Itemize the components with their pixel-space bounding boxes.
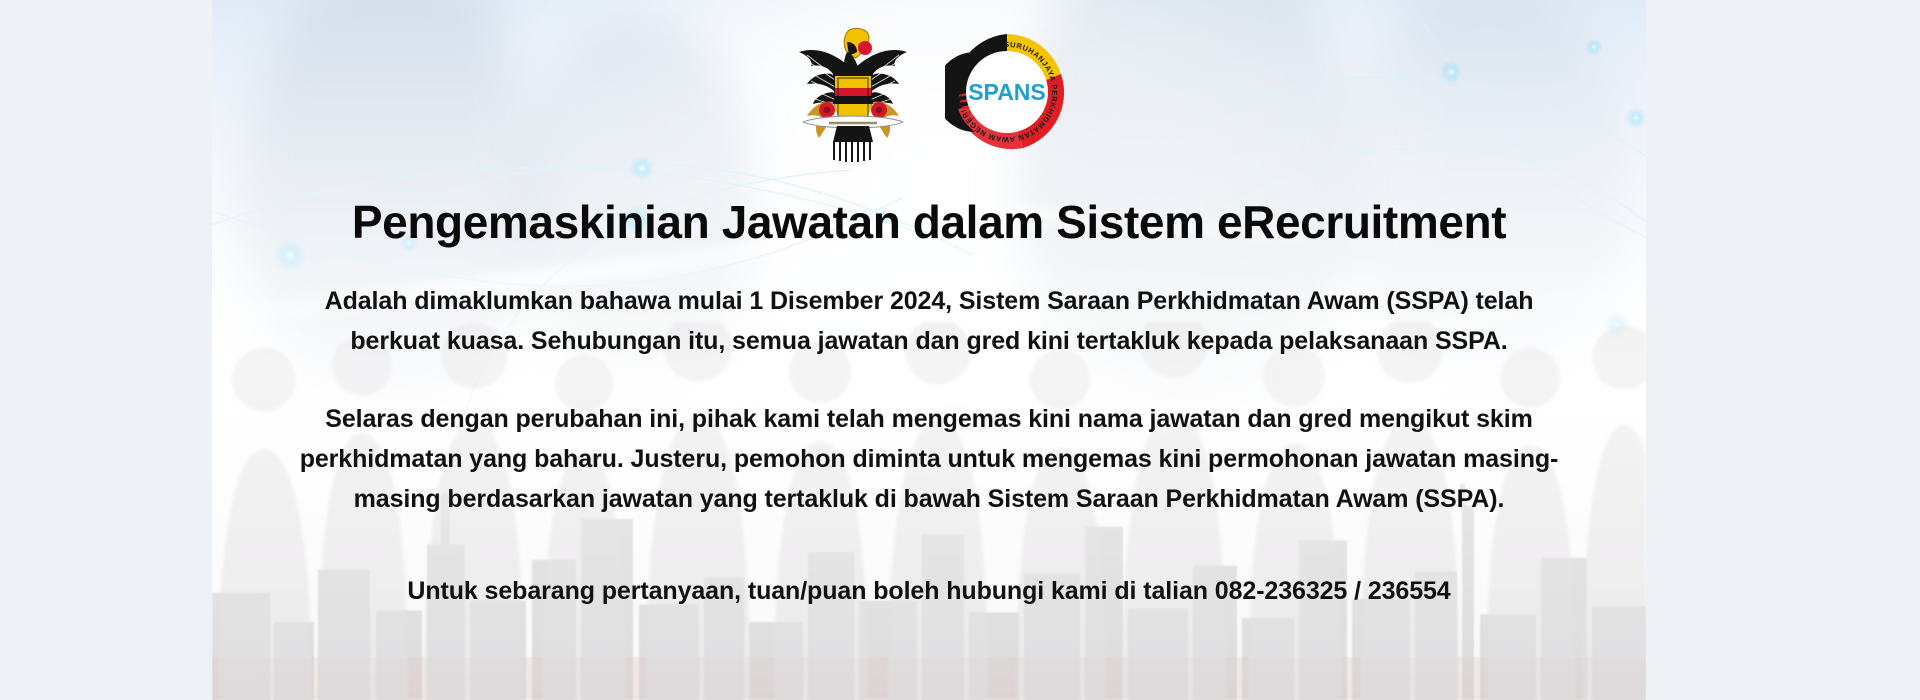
page-title: Pengemaskinian Jawatan dalam Sistem eRec… xyxy=(352,198,1506,247)
spans-logo-icon: SURUHANJAYA PERKHIDMATAN AWAM NEGERI SAR… xyxy=(945,30,1069,154)
banner-content: SURUHANJAYA PERKHIDMATAN AWAM NEGERI SAR… xyxy=(212,0,1646,700)
contact-line: Untuk sebarang pertanyaan, tuan/puan bol… xyxy=(407,571,1450,611)
logo-row: SURUHANJAYA PERKHIDMATAN AWAM NEGERI SAR… xyxy=(789,22,1069,162)
announcement-banner: SURUHANJAYA PERKHIDMATAN AWAM NEGERI SAR… xyxy=(212,0,1646,700)
page-root: SURUHANJAYA PERKHIDMATAN AWAM NEGERI SAR… xyxy=(0,0,1920,700)
notice-paragraph-2: Selaras dengan perubahan ini, pihak kami… xyxy=(297,399,1562,519)
notice-paragraph-1: Adalah dimaklumkan bahawa mulai 1 Disemb… xyxy=(322,281,1537,361)
sarawak-crest-icon xyxy=(789,22,917,162)
spans-acronym-text: SPANS xyxy=(968,79,1046,105)
